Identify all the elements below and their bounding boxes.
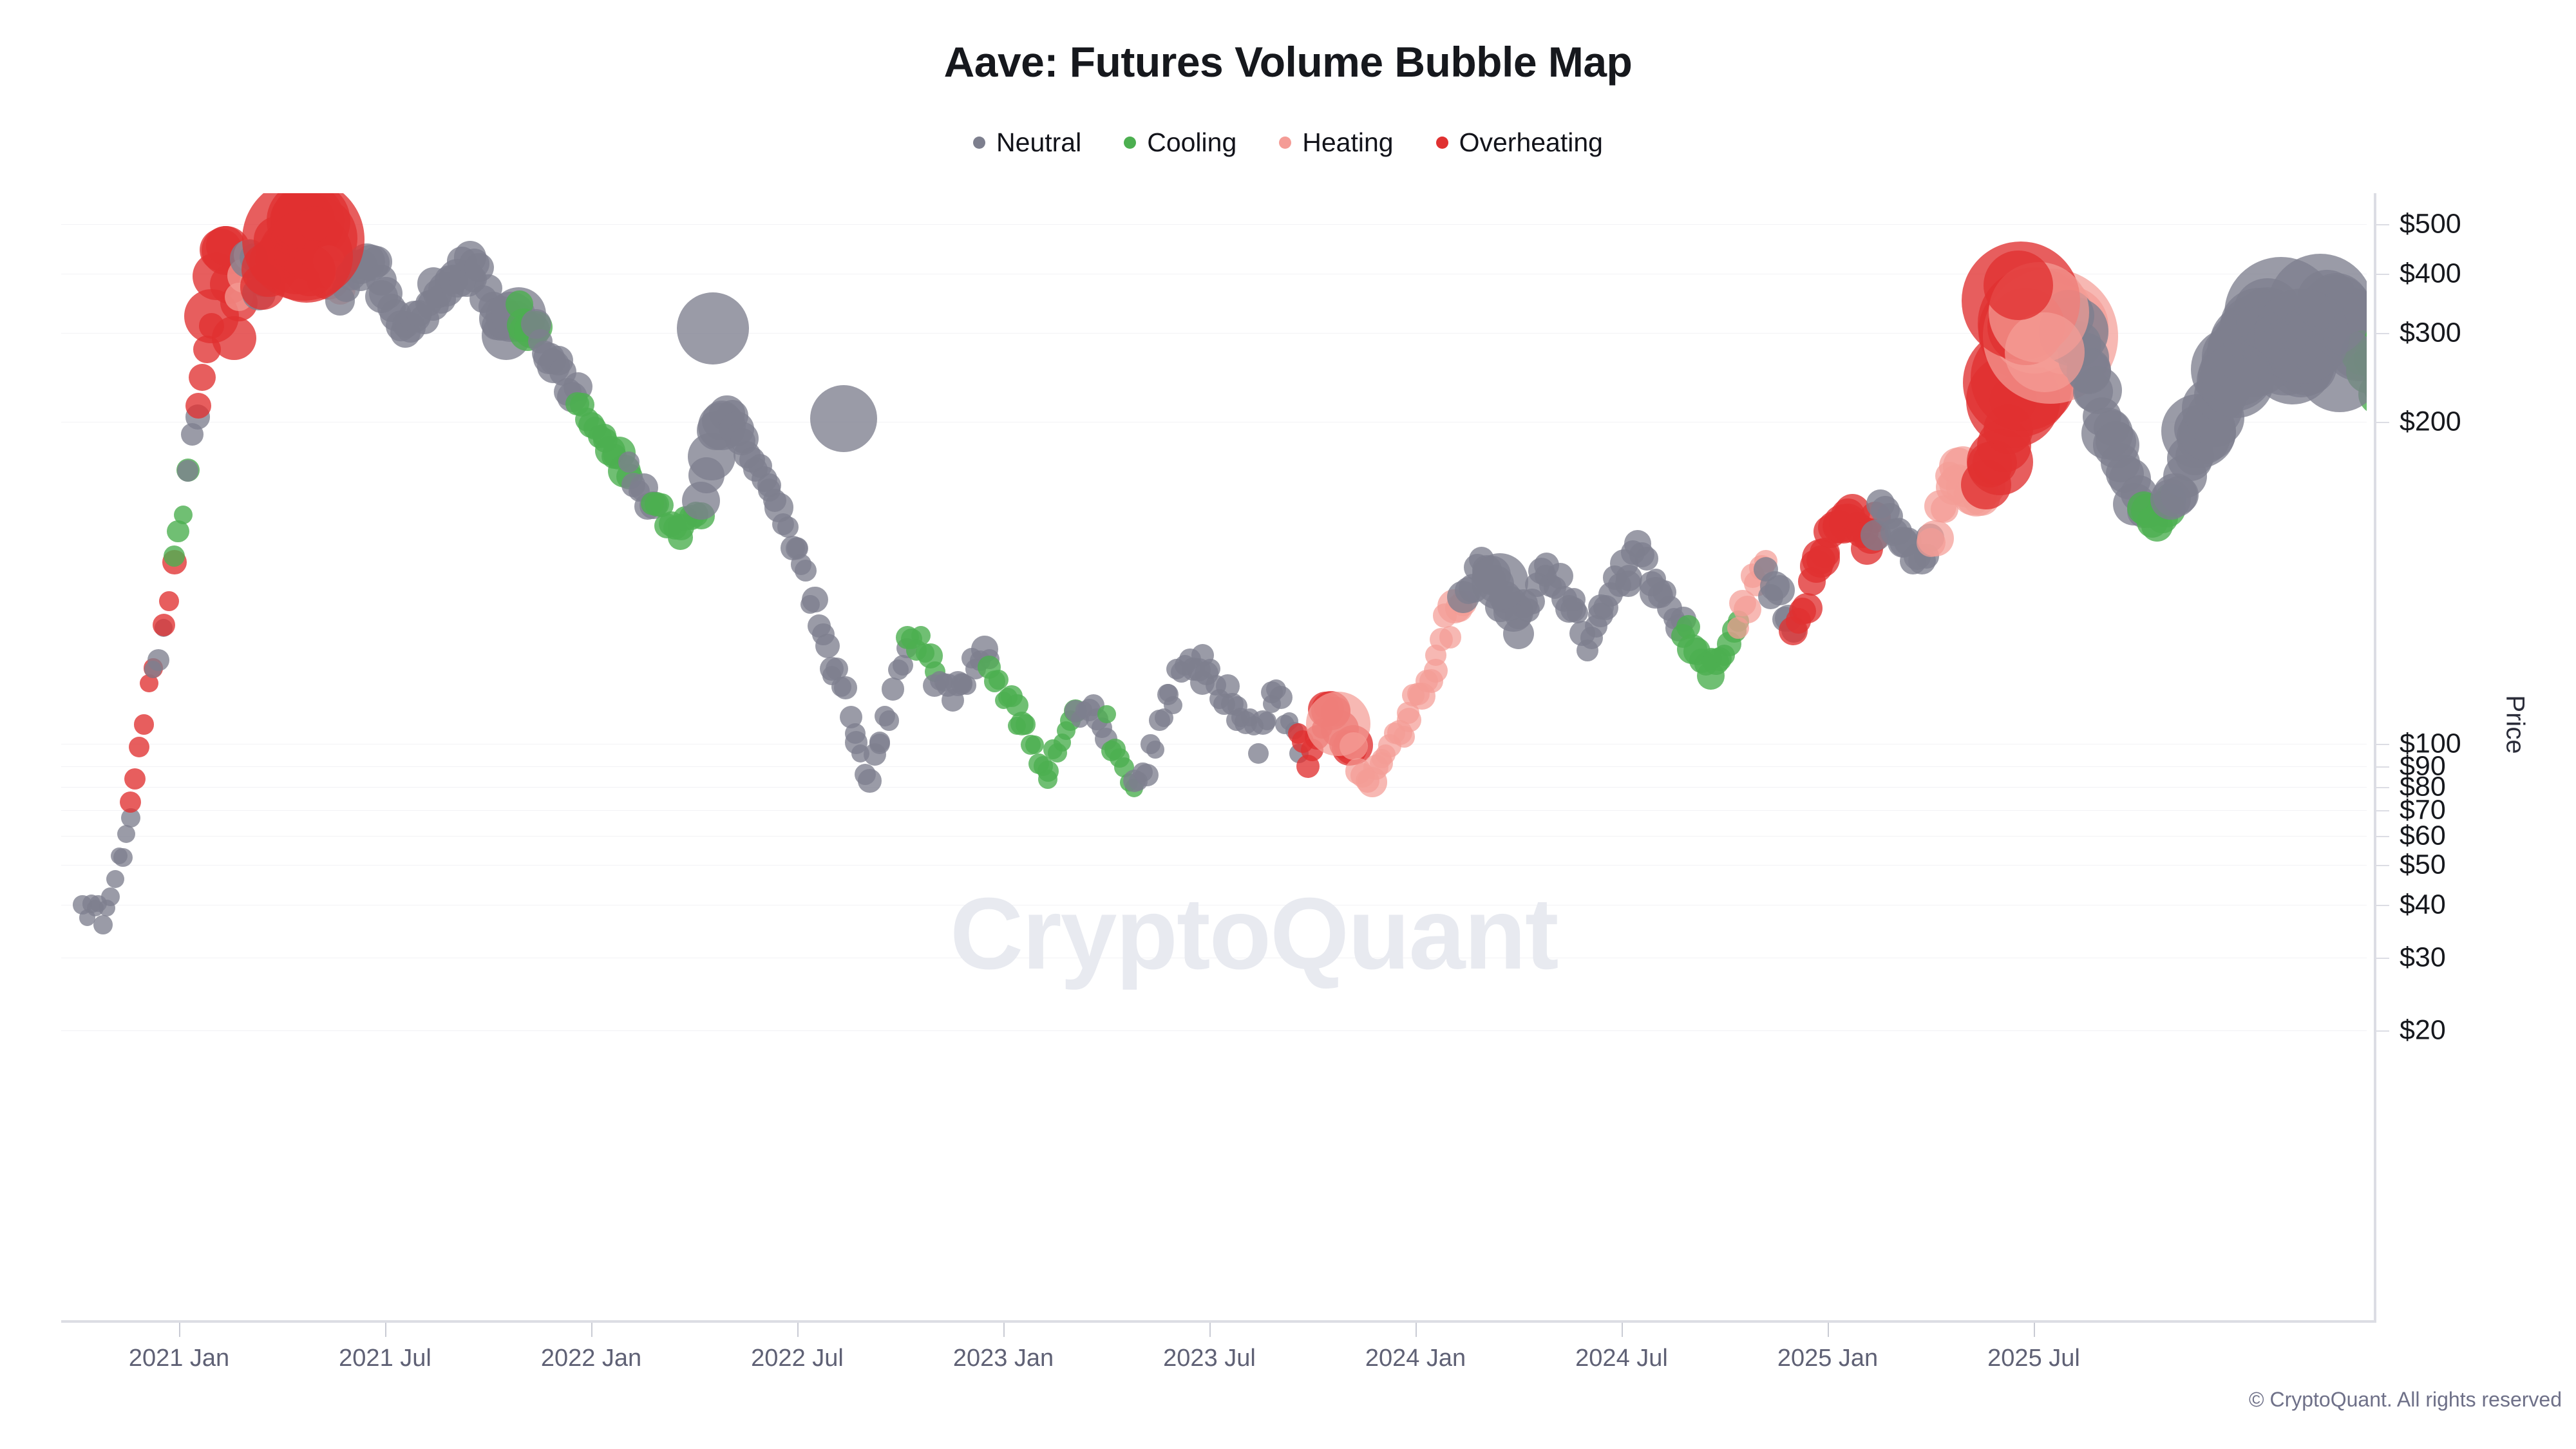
copyright-notice: © CryptoQuant. All rights reserved (2249, 1388, 2562, 1412)
bubble-cooling (1097, 705, 1116, 724)
y-tick-mark (2376, 224, 2389, 225)
y-tick-mark (2376, 836, 2389, 837)
bubble-neutral (1269, 686, 1293, 709)
bubble-overheating (1792, 593, 1822, 623)
x-tick-label: 2025 Jan (1777, 1345, 1878, 1372)
bubble-neutral (1164, 696, 1182, 715)
x-axis-line (61, 1320, 2375, 1323)
bubble-neutral (858, 769, 881, 792)
bubble-heating (1424, 659, 1448, 683)
bubble-neutral (147, 649, 169, 671)
bubble-neutral (93, 915, 113, 934)
y-tick-mark (2376, 274, 2389, 275)
bubble-overheating (129, 737, 149, 757)
bubble-overheating (124, 768, 146, 790)
x-tick-label: 2024 Jan (1365, 1345, 1466, 1372)
bubble-neutral (1547, 563, 1573, 589)
y-tick-label: $500 (2400, 209, 2461, 240)
bubble-neutral (2199, 343, 2274, 418)
x-tick-label: 2022 Jul (751, 1345, 844, 1372)
y-axis-line (2374, 193, 2376, 1323)
bubble-neutral (845, 723, 866, 744)
bubble-cooling (1038, 770, 1057, 789)
y-tick-label: $50 (2400, 849, 2446, 881)
bubble-cooling (1025, 735, 1045, 755)
legend-swatch-overheating (1436, 137, 1448, 149)
bubble-overheating (254, 216, 300, 263)
bubble-neutral (882, 677, 905, 701)
legend-swatch-cooling (1124, 137, 1136, 149)
y-tick-mark (2376, 1030, 2389, 1032)
x-tick-mark (1828, 1323, 1829, 1337)
chart-legend: Neutral Cooling Heating Overheating (0, 128, 2576, 158)
bubble-neutral (810, 385, 877, 452)
bubble-cooling (1016, 714, 1036, 734)
x-tick-label: 2025 Jul (1987, 1345, 2080, 1372)
legend-item-cooling[interactable]: Cooling (1124, 128, 1236, 158)
legend-label-overheating: Overheating (1459, 128, 1603, 158)
x-tick-label: 2023 Jan (953, 1345, 1054, 1372)
x-tick-mark (1416, 1323, 1417, 1337)
y-tick-label: $40 (2400, 889, 2446, 921)
bubble-neutral (802, 587, 828, 613)
bubble-overheating (134, 714, 155, 735)
x-tick-mark (1622, 1323, 1623, 1337)
y-tick-mark (2376, 422, 2389, 423)
y-tick-mark (2376, 744, 2389, 745)
y-tick-label: $30 (2400, 942, 2446, 974)
page-title: Aave: Futures Volume Bubble Map (0, 37, 2576, 86)
bubble-neutral (815, 634, 840, 658)
x-tick-mark (797, 1323, 799, 1337)
bubble-neutral (1472, 553, 1528, 610)
bubble-neutral (777, 516, 799, 538)
x-tick-mark (1209, 1323, 1211, 1337)
bubble-heating (1439, 626, 1461, 648)
bubble-cooling (911, 626, 931, 645)
bubble-neutral (113, 848, 132, 867)
bubble-neutral (1146, 741, 1164, 758)
y-tick-label: $20 (2400, 1015, 2446, 1046)
bubble-overheating (159, 591, 179, 611)
x-tick-label: 2023 Jul (1163, 1345, 1256, 1372)
bubble-scatter-layer (61, 193, 2367, 1320)
bubble-neutral (1635, 547, 1658, 570)
y-tick-mark (2376, 865, 2389, 866)
bubble-overheating (189, 364, 216, 392)
legend-swatch-neutral (973, 137, 985, 149)
y-tick-label: $300 (2400, 317, 2461, 349)
y-axis-title: Price (2501, 695, 2530, 753)
bubble-heating (1917, 520, 1954, 557)
x-tick-label: 2021 Jan (129, 1345, 229, 1372)
bubble-overheating (212, 316, 256, 361)
x-tick-label: 2021 Jul (339, 1345, 431, 1372)
bubble-neutral (879, 710, 900, 731)
legend-label-heating: Heating (1302, 128, 1393, 158)
legend-item-neutral[interactable]: Neutral (973, 128, 1081, 158)
x-tick-label: 2024 Jul (1575, 1345, 1668, 1372)
y-tick-label: $60 (2400, 820, 2446, 852)
chart-plot-area[interactable]: CryptoQuant (61, 193, 2367, 1320)
bubble-heating (1306, 692, 1370, 756)
bubble-neutral (1765, 575, 1795, 605)
bubble-neutral (177, 460, 198, 481)
bubble-neutral (101, 887, 120, 906)
legend-label-neutral: Neutral (996, 128, 1081, 158)
bubble-overheating (1984, 251, 2053, 320)
bubble-neutral (1258, 712, 1276, 730)
y-tick-mark (2376, 958, 2389, 959)
y-tick-mark (2376, 333, 2389, 334)
x-tick-mark (1003, 1323, 1005, 1337)
bubble-overheating (120, 791, 141, 813)
bubble-neutral (1248, 743, 1269, 764)
y-tick-label: $200 (2400, 406, 2461, 438)
legend-item-heating[interactable]: Heating (1279, 128, 1393, 158)
bubble-cooling (174, 506, 193, 524)
bubble-overheating (153, 614, 175, 636)
bubble-neutral (106, 870, 124, 888)
y-tick-mark (2376, 810, 2389, 811)
bubble-neutral (1567, 602, 1587, 623)
legend-swatch-heating (1279, 137, 1291, 149)
y-tick-mark (2376, 787, 2389, 788)
x-tick-mark (385, 1323, 386, 1337)
bubble-neutral (677, 292, 749, 365)
x-tick-label: 2022 Jan (541, 1345, 641, 1372)
y-tick-mark (2376, 905, 2389, 906)
bubble-neutral (795, 560, 817, 582)
x-tick-mark (2034, 1323, 2035, 1337)
y-tick-label: $400 (2400, 258, 2461, 290)
bubble-neutral (1135, 764, 1158, 786)
bubble-heating (2005, 312, 2085, 392)
bubble-heating (1734, 596, 1761, 623)
legend-item-overheating[interactable]: Overheating (1436, 128, 1603, 158)
x-tick-mark (179, 1323, 180, 1337)
bubble-neutral (117, 825, 135, 843)
x-tick-mark (591, 1323, 592, 1337)
bubble-neutral (834, 676, 857, 699)
legend-label-cooling: Cooling (1147, 128, 1236, 158)
y-tick-mark (2376, 766, 2389, 768)
